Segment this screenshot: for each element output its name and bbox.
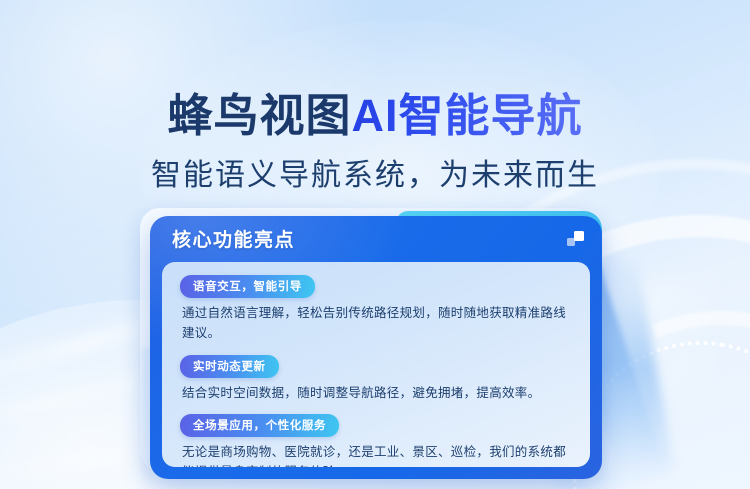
card-header: 核心功能亮点: [150, 216, 602, 260]
hero-block: 蜂鸟视图AI智能导航 智能语义导航系统，为未来而生: [0, 92, 750, 194]
card-title: 核心功能亮点: [172, 225, 295, 252]
feature-description: 结合实时空间数据，随时调整导航路径，避免拥堵，提高效率。: [182, 384, 572, 404]
feature-card: 核心功能亮点 语音交互，智能引导 通过自然语言理解，轻松告别传统路径规划，随时随…: [140, 208, 608, 483]
product-name: AI智能导航: [352, 90, 583, 141]
list-item: 实时动态更新 结合实时空间数据，随时调整导航路径，避免拥堵，提高效率。: [180, 355, 572, 404]
feature-description: 无论是商场购物、医院就诊，还是工业、景区、巡检，我们的系统都能提供量身定制的服务…: [182, 443, 572, 467]
page-title: 蜂鸟视图AI智能导航: [0, 92, 750, 141]
feature-description: 通过自然语言理解，轻松告别传统路径规划，随时随地获取精准路线建议。: [182, 304, 572, 344]
two-squares-icon: [567, 231, 584, 246]
page-subtitle: 智能语义导航系统，为未来而生: [0, 150, 750, 194]
feature-badge: 实时动态更新: [180, 355, 279, 378]
list-item: 语音交互，智能引导 通过自然语言理解，轻松告别传统路径规划，随时随地获取精准路线…: [180, 275, 572, 344]
feature-badge: 语音交互，智能引导: [180, 275, 315, 298]
two-squares-icon-large: [574, 231, 584, 241]
feature-badge: 全场景应用，个性化服务: [180, 414, 339, 437]
brand-name: 蜂鸟视图: [167, 90, 351, 141]
two-squares-icon-small: [567, 238, 575, 246]
card-body: 核心功能亮点 语音交互，智能引导 通过自然语言理解，轻松告别传统路径规划，随时随…: [150, 216, 602, 479]
list-item: 全场景应用，个性化服务 无论是商场购物、医院就诊，还是工业、景区、巡检，我们的系…: [180, 414, 572, 467]
poster-canvas: 蜂鸟视图AI智能导航 智能语义导航系统，为未来而生 核心功能亮点 语音交互，智能…: [0, 0, 750, 489]
feature-list-panel: 语音交互，智能引导 通过自然语言理解，轻松告别传统路径规划，随时随地获取精准路线…: [162, 262, 590, 467]
